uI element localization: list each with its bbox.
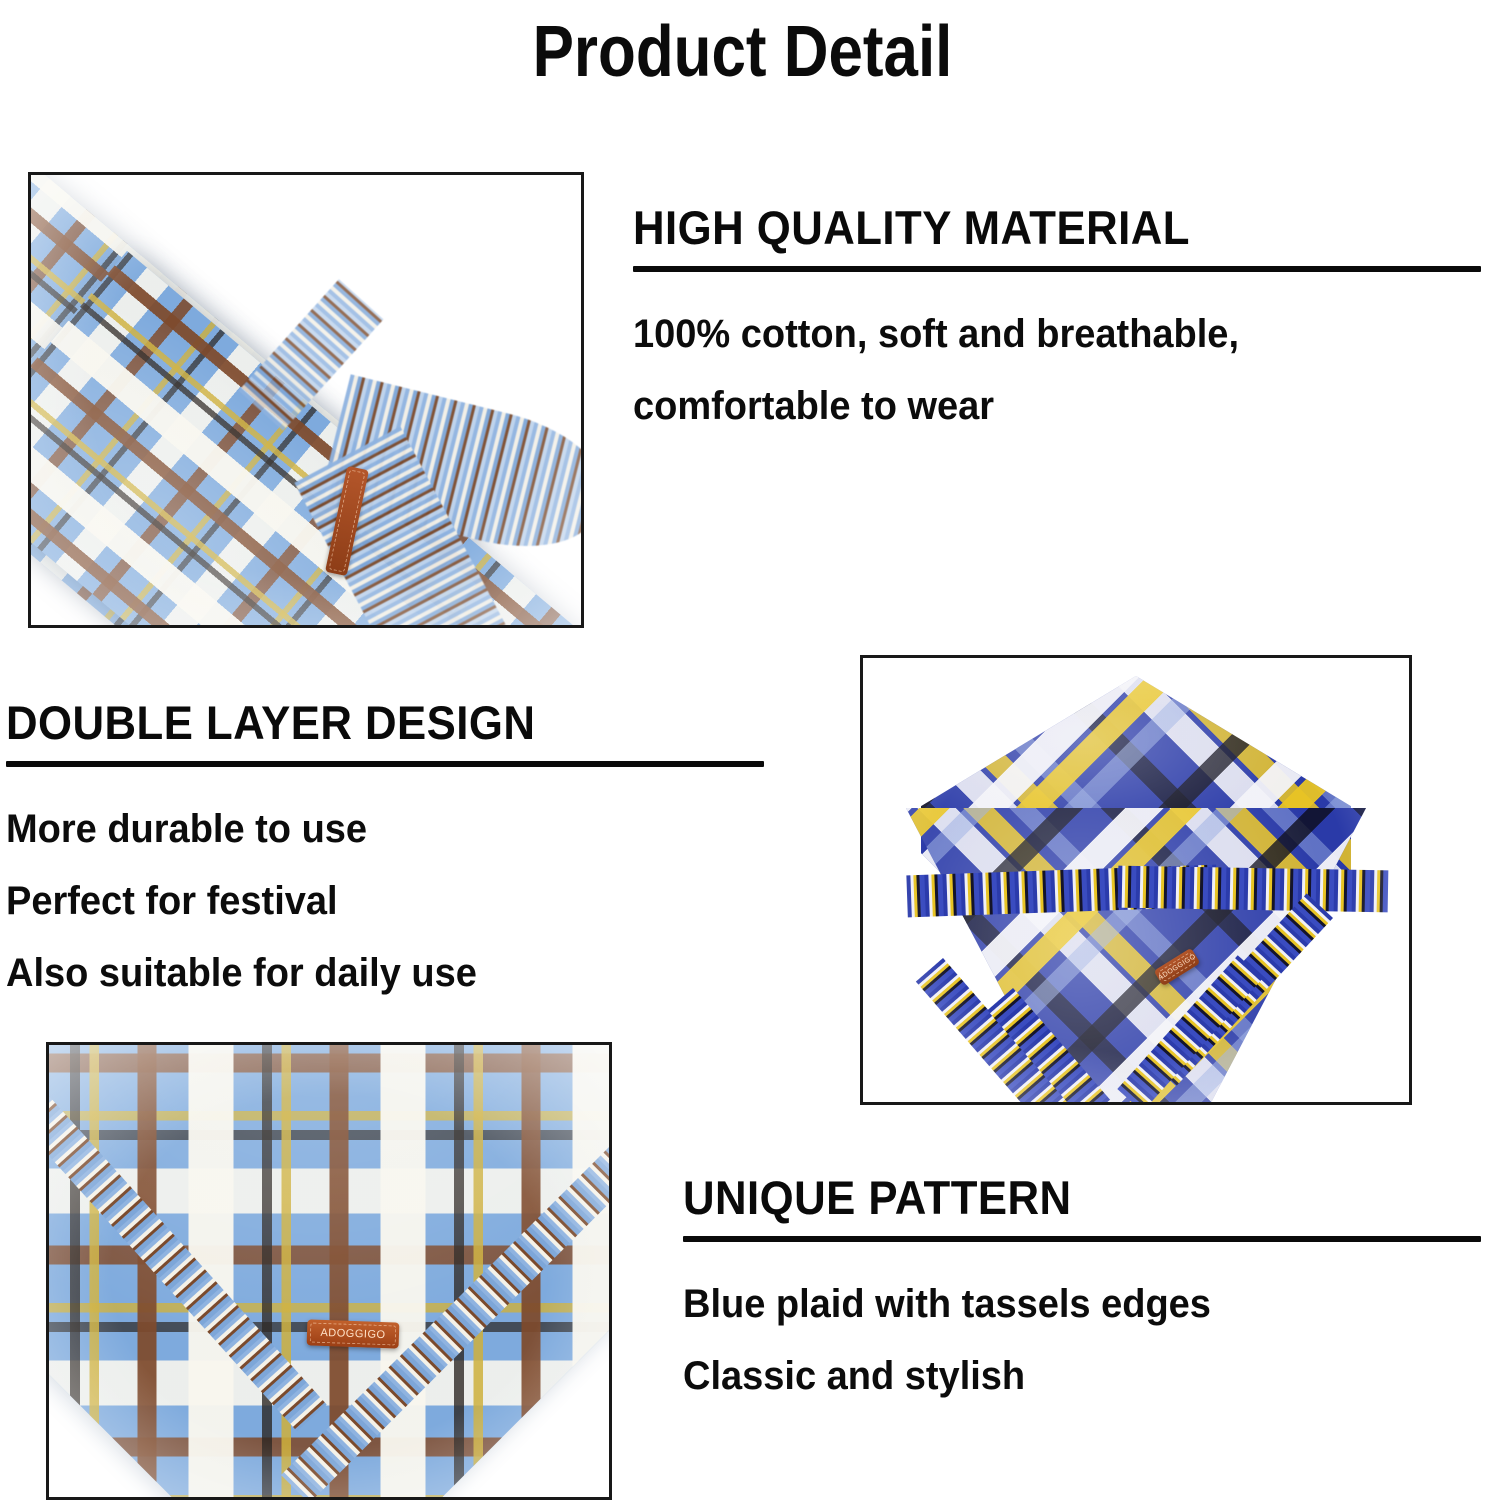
- product-photo-bandana-royal-blue[interactable]: ADOGGIGO: [860, 655, 1412, 1105]
- feature-high-quality-material: HIGH QUALITY MATERIAL 100% cotton, soft …: [633, 200, 1483, 442]
- light-bandana-stage: ADOGGIGO: [49, 1045, 609, 1497]
- bandana-fringe-top-right: [1118, 866, 1389, 913]
- feature-line: More durable to use: [6, 793, 738, 865]
- product-photo-bandana-light-blue[interactable]: ADOGGIGO: [46, 1042, 612, 1500]
- feature-line: comfortable to wear: [633, 370, 1441, 442]
- feature-line: Classic and stylish: [683, 1340, 1443, 1412]
- feature-line-mixed: Also suitable for daily use: [6, 937, 738, 1009]
- blue-bandana-stage: ADOGGIGO: [863, 658, 1409, 1102]
- feature-unique-pattern: UNIQUE PATTERN Blue plaid with tassels e…: [683, 1170, 1483, 1412]
- feature-line-normal: Also suitable: [6, 951, 253, 995]
- feature-line: Perfect for festival: [6, 865, 738, 937]
- feature-heading: UNIQUE PATTERN: [683, 1170, 1427, 1226]
- feature-line: Blue plaid with tassels edges: [683, 1268, 1443, 1340]
- tag-brand-text: ADOGGIGO: [307, 1319, 400, 1348]
- feature-line-emphasis: for daily use: [253, 951, 477, 995]
- feature-heading: DOUBLE LAYER DESIGN: [6, 695, 722, 751]
- feature-heading: HIGH QUALITY MATERIAL: [633, 200, 1424, 256]
- heading-underline: [633, 266, 1481, 272]
- feature-line: 100% cotton, soft and breathable,: [633, 298, 1441, 370]
- scarf-image-stage: [31, 175, 581, 625]
- heading-underline: [683, 1236, 1481, 1242]
- product-detail-page: Product Detail HIGH QUALITY MATERIA: [0, 0, 1485, 1500]
- heading-underline: [6, 761, 764, 767]
- page-title: Product Detail: [104, 6, 1381, 98]
- feature-double-layer-design: DOUBLE LAYER DESIGN More durable to use …: [6, 695, 776, 1009]
- product-photo-scarf-draped[interactable]: [28, 172, 584, 628]
- leather-brand-tag: ADOGGIGO: [307, 1319, 400, 1348]
